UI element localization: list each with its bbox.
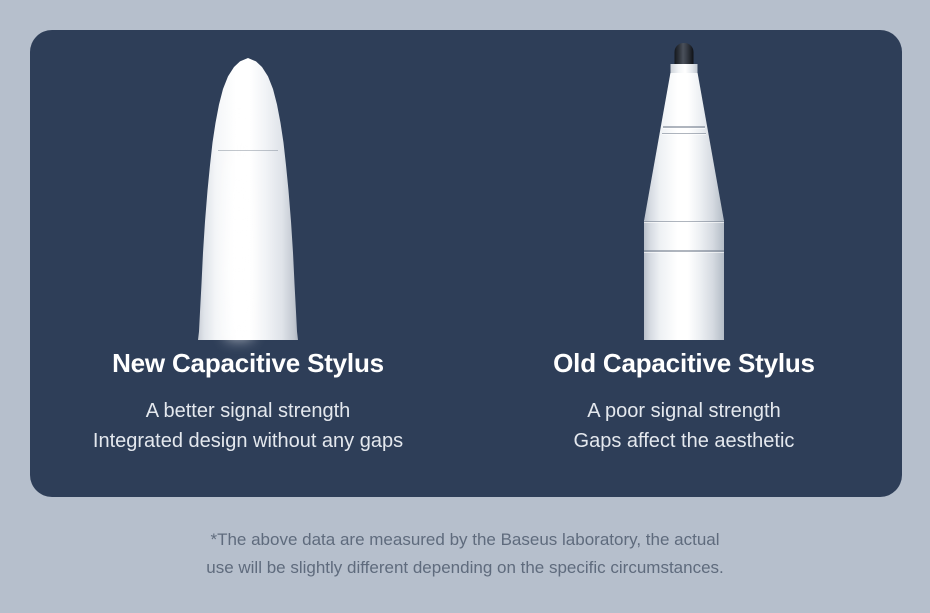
footnote-line-2: use will be slightly different depending… <box>0 554 930 582</box>
panel-new-stylus: New Capacitive Stylus A better signal st… <box>30 30 466 497</box>
old-stylus-image <box>644 43 724 340</box>
old-stylus-caption: Old Capacitive Stylus A poor signal stre… <box>466 348 902 456</box>
old-stylus-gap-line-1 <box>663 126 705 128</box>
new-stylus-stage <box>30 30 466 340</box>
new-stylus-caption: New Capacitive Stylus A better signal st… <box>30 348 466 456</box>
old-stylus-gap-line-4 <box>644 250 724 252</box>
old-stylus-gap-line-3 <box>644 221 724 222</box>
panel-old-stylus: Old Capacitive Stylus A poor signal stre… <box>466 30 902 497</box>
new-stylus-benefit-1: A better signal strength <box>30 396 466 426</box>
old-stylus-benefit-2: Gaps affect the aesthetic <box>466 426 902 456</box>
comparison-card: New Capacitive Stylus A better signal st… <box>30 30 902 497</box>
old-stylus-title: Old Capacitive Stylus <box>466 348 902 379</box>
new-stylus-title: New Capacitive Stylus <box>30 348 466 379</box>
comparison-panels: New Capacitive Stylus A better signal st… <box>30 30 902 497</box>
footnote-line-1: *The above data are measured by the Base… <box>0 526 930 554</box>
footnote: *The above data are measured by the Base… <box>0 526 930 582</box>
old-stylus-cone <box>644 73 724 221</box>
old-stylus-gap-line-2 <box>662 133 706 134</box>
new-stylus-seam-line <box>218 150 278 151</box>
new-stylus-highlight <box>226 110 252 340</box>
old-stylus-stage <box>466 30 902 340</box>
old-stylus-benefit-1: A poor signal strength <box>466 396 902 426</box>
new-stylus-benefit-2: Integrated design without any gaps <box>30 426 466 456</box>
old-stylus-barrel <box>644 220 724 340</box>
new-stylus-image <box>198 58 298 340</box>
